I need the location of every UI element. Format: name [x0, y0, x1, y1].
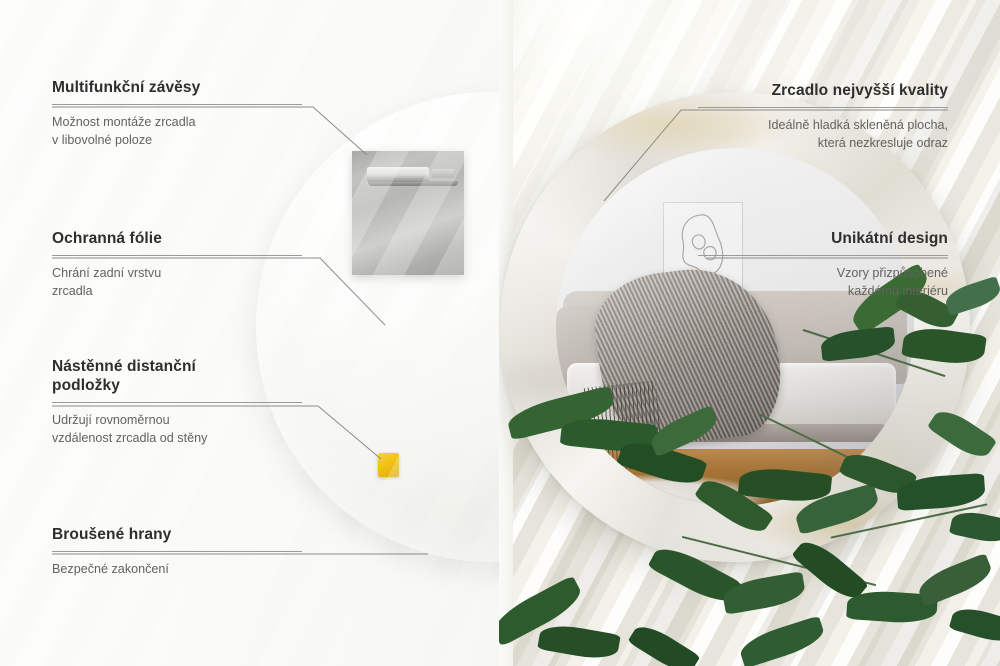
annotation-title: Unikátní design: [698, 229, 948, 248]
annotation-rule: [52, 402, 302, 403]
annotation-unikatni-design: Unikátní design Vzory přizpůsobené každé…: [698, 229, 948, 300]
annotation-body: Bezpečné zakončení: [52, 561, 302, 579]
annotation-body: Chrání zadní vrstvu zrcadla: [52, 265, 302, 300]
annotation-title: Multifunkční závěsy: [52, 78, 302, 97]
annotation-rule: [52, 255, 302, 256]
annotation-rule: [698, 107, 948, 108]
annotation-multifunkcni-zavesy: Multifunkční závěsy Možnost montáže zrca…: [52, 78, 302, 149]
annotation-brousene-hrany: Broušené hrany Bezpečné zakončení: [52, 525, 302, 579]
annotation-title: Nástěnné distanční podložky: [52, 357, 302, 395]
hanger-slot-icon: [367, 167, 429, 182]
annotation-nastenne-distancni-podlozky: Nástěnné distanční podložky Udržují rovn…: [52, 357, 302, 447]
annotation-rule: [52, 104, 302, 105]
spacer-pad: [378, 453, 399, 477]
annotation-rule: [52, 551, 302, 552]
annotation-body: Vzory přizpůsobené každému interiéru: [698, 265, 948, 300]
annotation-ochranna-folie: Ochranná fólie Chrání zadní vrstvu zrcad…: [52, 229, 302, 300]
annotation-zrcadlo-nejvyssi-kvality: Zrcadlo nejvyšší kvality Ideálně hladká …: [698, 81, 948, 152]
annotation-title: Ochranná fólie: [52, 229, 302, 248]
annotation-body: Možnost montáže zrcadla v libovolné polo…: [52, 114, 302, 149]
annotation-title: Zrcadlo nejvyšší kvality: [698, 81, 948, 100]
annotation-title: Broušené hrany: [52, 525, 302, 544]
annotation-body: Ideálně hladká skleněná plocha, která ne…: [698, 117, 948, 152]
annotation-body: Udržují rovnoměrnou vzdálenost zrcadla o…: [52, 412, 302, 447]
annotation-rule: [698, 255, 948, 256]
hanger-slot-secondary-icon: [432, 169, 454, 178]
hanger-plate: [352, 151, 464, 275]
hanger-bar: [368, 181, 458, 186]
infographic-canvas: Multifunkční závěsy Možnost montáže zrca…: [0, 0, 1000, 666]
